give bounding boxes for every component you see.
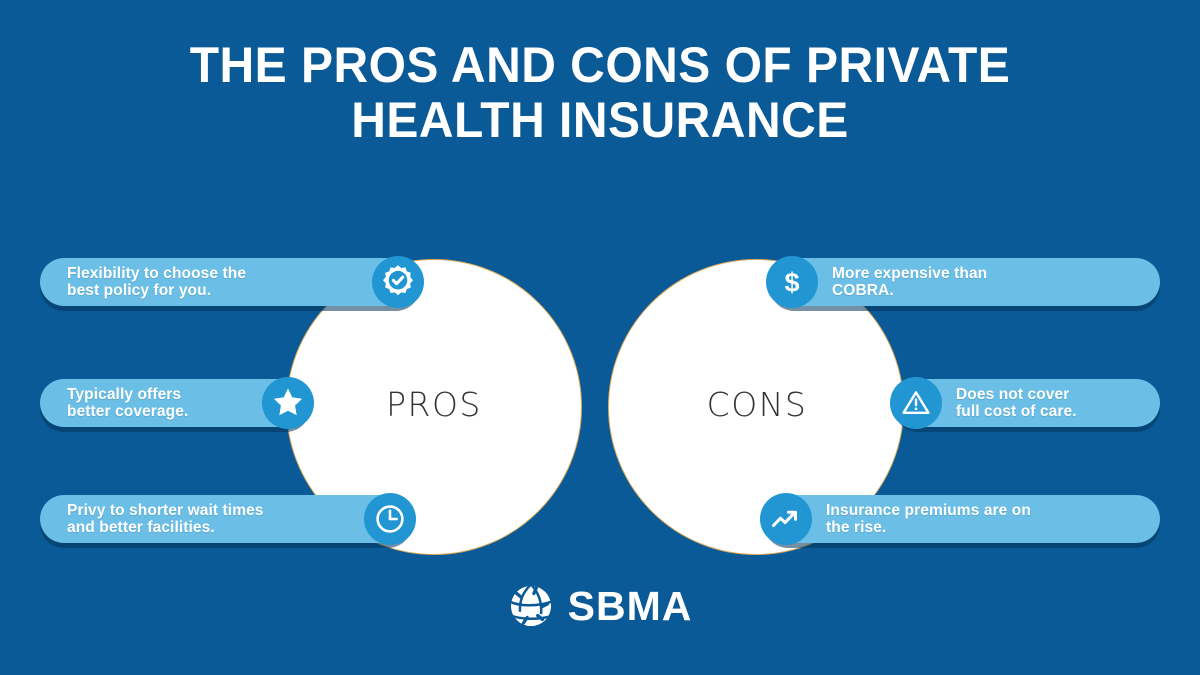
venn-diagram: PROS CONS	[0, 0, 1200, 675]
pros-item-3[interactable]: Privy to shorter wait times and better f…	[40, 495, 412, 543]
globe-sphere-icon	[508, 583, 554, 629]
svg-text:$: $	[784, 268, 799, 298]
trending-up-arrow-icon	[760, 493, 812, 545]
pros-item-2-label: Typically offers better coverage.	[67, 386, 188, 421]
brand-name: SBMA	[568, 586, 693, 627]
dollar-sign-icon: $	[766, 256, 818, 308]
pros-item-1[interactable]: Flexibility to choose the best policy fo…	[40, 258, 420, 306]
verified-badge-check-icon	[372, 256, 424, 308]
cons-item-3-label: Insurance premiums are on the rise.	[826, 502, 1031, 537]
infographic-canvas: THE PROS AND CONS OF PRIVATE HEALTH INSU…	[0, 0, 1200, 675]
venn-label-pros: PROS	[314, 385, 554, 424]
cons-item-2-label: Does not cover full cost of care.	[956, 386, 1077, 421]
cons-item-3[interactable]: Insurance premiums are on the rise.	[764, 495, 1160, 543]
cons-item-1[interactable]: $ More expensive than COBRA.	[770, 258, 1160, 306]
cons-item-1-label: More expensive than COBRA.	[832, 265, 987, 300]
pros-item-2[interactable]: Typically offers better coverage.	[40, 379, 310, 427]
venn-label-cons: CONS	[637, 385, 877, 424]
warning-triangle-icon	[890, 377, 942, 429]
pros-item-1-label: Flexibility to choose the best policy fo…	[67, 265, 246, 300]
brand-logo: SBMA	[0, 583, 1200, 629]
pros-item-3-label: Privy to shorter wait times and better f…	[67, 502, 264, 537]
clock-icon	[364, 493, 416, 545]
star-icon	[262, 377, 314, 429]
cons-item-2[interactable]: Does not cover full cost of care.	[894, 379, 1160, 427]
